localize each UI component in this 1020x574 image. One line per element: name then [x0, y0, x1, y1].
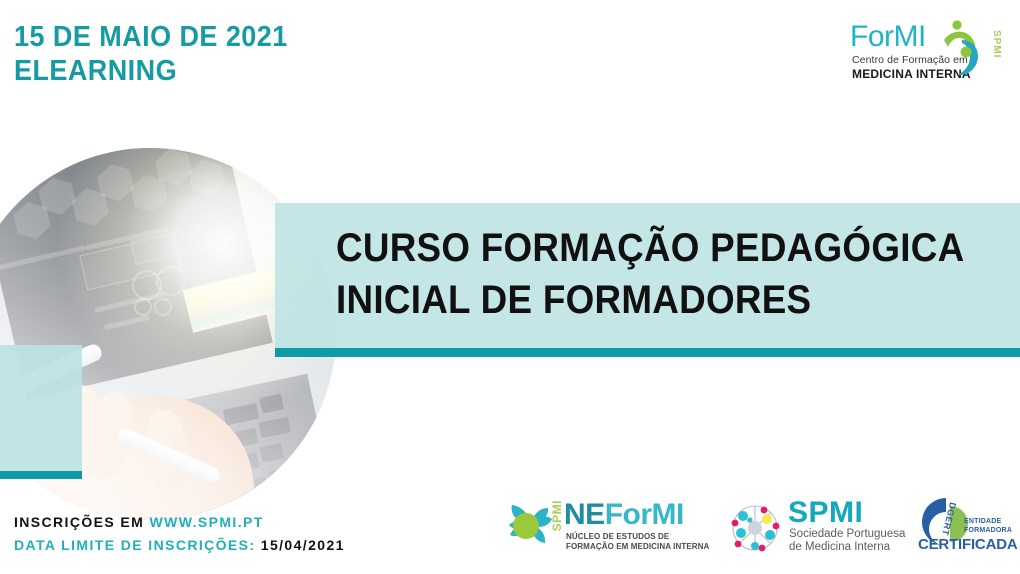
neformi-wordmark: NEForMI	[564, 500, 684, 530]
spmi-subtitle-1: Sociedade Portuguesa	[789, 528, 905, 541]
neformi-subtitle-2: FORMAÇÃO EM MEDICINA INTERNA	[566, 542, 709, 552]
dgert-certified-word: CERTIFICADA	[918, 536, 1017, 553]
event-date: 15 DE MAIO DE 2021	[14, 20, 288, 54]
deadline-date: 15/04/2021	[261, 537, 345, 553]
neformi-word-part-1: NE	[564, 498, 605, 531]
side-accent-block	[0, 345, 82, 471]
neformi-subtitle-1: NÚCLEO DE ESTUDOS DE	[566, 532, 709, 542]
neformi-vertical-label: SPMI	[550, 500, 564, 531]
registration-line: INSCRIÇÕES EM WWW.SPMI.PT	[14, 511, 345, 534]
formi-wordmark: ForMI	[850, 22, 926, 52]
event-poster: 15 DE MAIO DE 2021 ELEARNING ForMI Centr…	[0, 0, 1020, 574]
dgert-entity-text: ENTIDADE FORMADORA	[964, 518, 1012, 535]
dgert-line-1: ENTIDADE	[964, 518, 1012, 527]
neformi-subtitle: NÚCLEO DE ESTUDOS DE FORMAÇÃO EM MEDICIN…	[566, 532, 709, 551]
registration-label: INSCRIÇÕES EM	[14, 514, 150, 530]
spmi-subtitle: Sociedade Portuguesa de Medicina Interna	[789, 528, 905, 554]
event-format: ELEARNING	[14, 54, 288, 88]
registration-url[interactable]: WWW.SPMI.PT	[150, 514, 264, 530]
formi-vertical-label: SPMI	[991, 30, 1002, 58]
deadline-label: DATA LIMITE DE INSCRIÇÕES:	[14, 537, 261, 553]
formi-logo: ForMI Centro de Formação em MEDICINA INT…	[850, 22, 1002, 88]
dgert-badge: DGERT ENTIDADE FORMADORA CERTIFICADA	[908, 494, 1008, 560]
deadline-line: DATA LIMITE DE INSCRIÇÕES: 15/04/2021	[14, 534, 345, 557]
header-block: 15 DE MAIO DE 2021 ELEARNING	[14, 20, 308, 88]
page-title: CURSO FORMAÇÃO PEDAGÓGICA INICIAL DE FOR…	[336, 222, 971, 326]
neformi-word-part-2: ForMI	[605, 498, 684, 531]
formi-figure-icon	[938, 18, 984, 78]
spmi-wordmark: SPMI	[788, 497, 863, 529]
footer-info: INSCRIÇÕES EM WWW.SPMI.PT DATA LIMITE DE…	[14, 511, 345, 557]
side-accent-rule	[0, 471, 82, 479]
title-accent-rule	[275, 348, 1020, 357]
dgert-line-2: FORMADORA	[964, 527, 1012, 536]
neformi-logo: SPMI NEForMI NÚCLEO DE ESTUDOS DE FORMAÇ…	[500, 492, 692, 564]
spmi-subtitle-2: de Medicina Interna	[789, 541, 905, 554]
spmi-logo: SPMI Sociedade Portuguesa de Medicina In…	[726, 495, 896, 561]
spmi-molecule-icon	[726, 499, 784, 562]
